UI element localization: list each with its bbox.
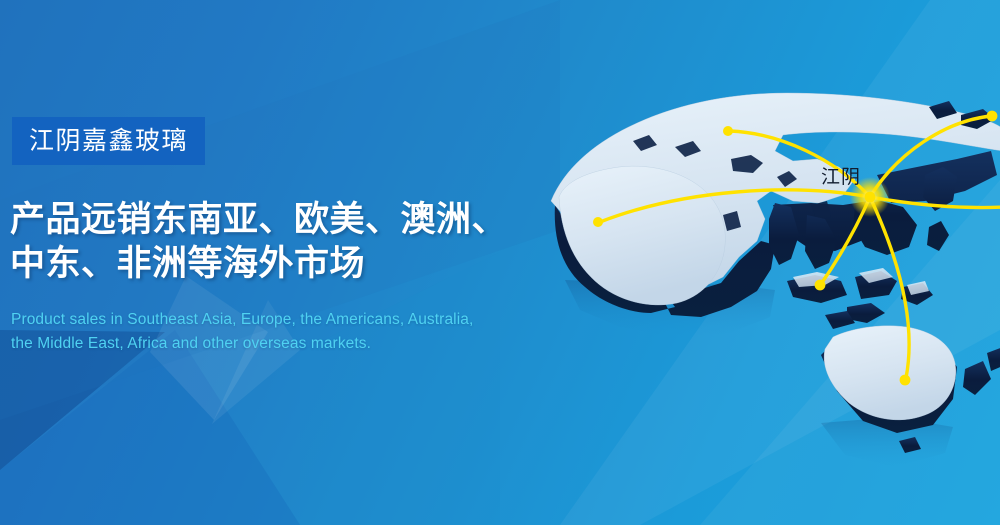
dot-europe [723, 126, 733, 136]
dot-northeast [987, 111, 998, 122]
australia-side [821, 333, 957, 433]
hub-city-label: 江阴 [821, 168, 861, 187]
dot-australia [900, 375, 911, 386]
map-reflections [565, 280, 953, 467]
facet-right-lower [700, 180, 1000, 525]
indonesia-islands [787, 271, 933, 329]
hub-point [865, 192, 876, 203]
destination-dots [593, 111, 997, 386]
route-to-northeast [870, 116, 991, 197]
tasmania [899, 437, 921, 453]
indonesia-islands-top [793, 268, 929, 295]
route-to-east-far [870, 197, 1000, 208]
banner-copy: 江阴嘉鑫玻璃 产品远销东南亚、欧美、澳洲、 中东、非洲等海外市场 Product… [0, 0, 600, 525]
promo-banner: 江阴嘉鑫玻璃 产品远销东南亚、欧美、澳洲、 中东、非洲等海外市场 Product… [0, 0, 1000, 525]
facet-top-right [560, 0, 1000, 525]
subheadline-text: Product sales in Southeast Asia, Europe,… [11, 308, 581, 356]
east-asia-side [853, 167, 957, 255]
shipping-routes [600, 116, 1000, 378]
eurasia-africa-side [555, 151, 997, 317]
brand-name-badge: 江阴嘉鑫玻璃 [12, 117, 205, 165]
south-asia-side [769, 203, 837, 269]
route-to-australia [870, 197, 909, 378]
map-inner-details [633, 135, 831, 231]
dot-southeast-asia [815, 280, 826, 291]
australia-top [824, 326, 956, 420]
brand-name-text: 江阴嘉鑫玻璃 [29, 129, 188, 154]
route-to-americas [600, 190, 870, 222]
pacific-islands [963, 347, 1000, 395]
headline-text: 产品远销东南亚、欧美、澳洲、 中东、非洲等海外市场 [10, 198, 590, 286]
eurasia-africa-top [551, 93, 1000, 291]
north-islands [929, 101, 995, 129]
route-to-southeast-asia [821, 197, 870, 284]
